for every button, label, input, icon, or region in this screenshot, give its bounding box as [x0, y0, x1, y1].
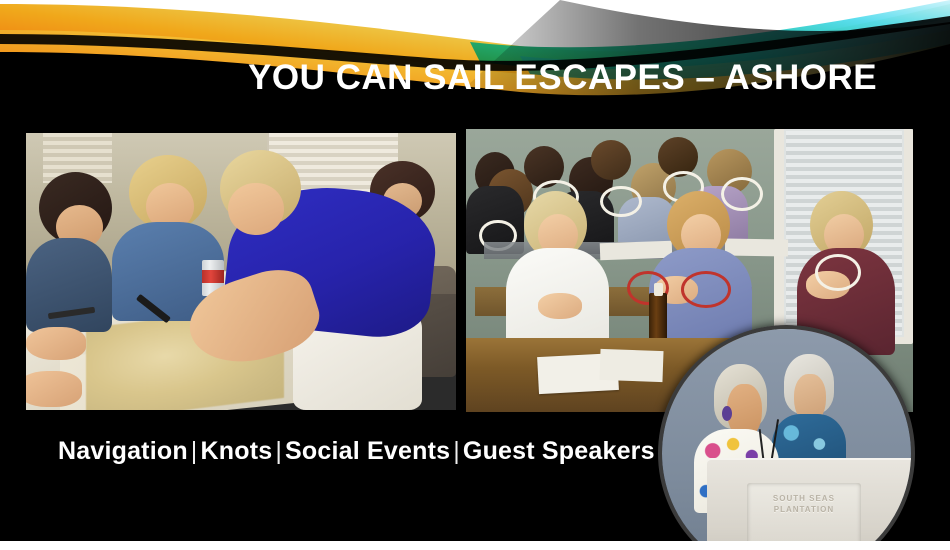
hand — [538, 293, 583, 318]
caption-item-knots: Knots — [201, 437, 273, 465]
slide-title: YOU CAN SAIL ESCAPES – ASHORE — [248, 58, 908, 98]
podium-plaque-line1: SOUTH SEAS — [747, 493, 862, 504]
person-face — [228, 183, 284, 236]
rope-loop — [721, 177, 763, 211]
caption-separator: | — [188, 437, 201, 465]
handout — [725, 239, 788, 257]
bottom-strip — [0, 541, 950, 550]
handout — [600, 349, 664, 382]
rope-loop — [600, 186, 642, 217]
person-head — [591, 140, 631, 180]
hand — [26, 371, 82, 407]
caption-line: Navigation|Knots|Social Events|Guest Spe… — [58, 437, 655, 466]
guest-speakers-podium-photo: SOUTH SEAS PLANTATION — [658, 325, 915, 550]
photo-scene — [26, 133, 456, 410]
person-body — [26, 238, 112, 332]
rope-loop-red — [681, 271, 732, 308]
caption-item-social-events: Social Events — [285, 437, 450, 465]
presentation-slide: YOU CAN SAIL ESCAPES – ASHORE — [0, 0, 950, 550]
podium-plaque-line2: PLANTATION — [747, 504, 862, 515]
podium-plaque-text: SOUTH SEAS PLANTATION — [747, 493, 862, 515]
photo-scene: SOUTH SEAS PLANTATION — [662, 329, 911, 550]
hand — [26, 327, 86, 360]
caption-item-guest-speakers: Guest Speakers — [463, 437, 655, 465]
navigation-chart-workshop-photo — [26, 133, 456, 410]
caption-separator: | — [450, 437, 463, 465]
earring — [722, 406, 732, 421]
rope-loop — [815, 254, 861, 291]
caption-item-navigation: Navigation — [58, 437, 188, 465]
handout — [600, 241, 672, 260]
caption-separator: | — [272, 437, 285, 465]
